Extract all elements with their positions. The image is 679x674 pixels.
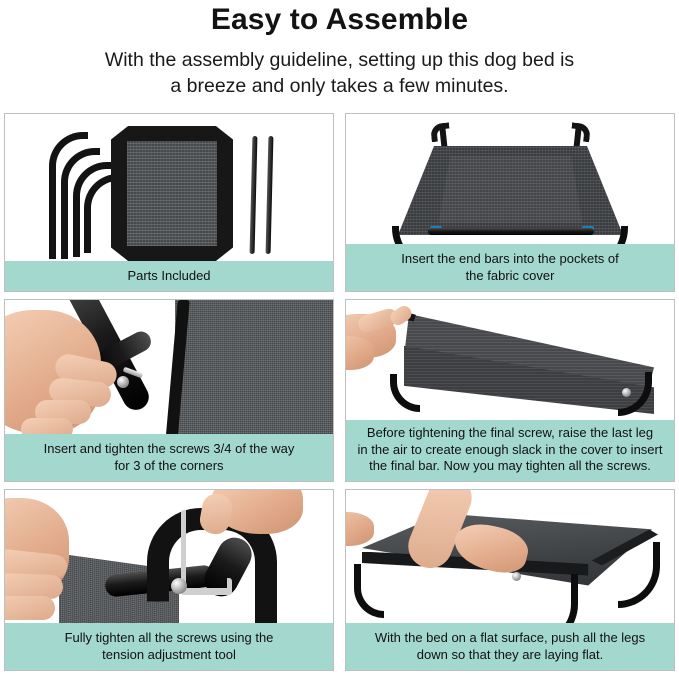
page-subtitle: With the assembly guideline, setting up …: [60, 47, 620, 99]
parts-illustration: [5, 114, 333, 261]
subtitle-line-2: a breeze and only takes a few minutes.: [60, 73, 620, 99]
bed-leg-left-standing: [390, 374, 420, 412]
bed-fabric-top: [398, 146, 623, 235]
raise-leg-illustration: [346, 300, 674, 420]
caption-line: Before tightening the final screw, raise…: [350, 425, 670, 442]
cover-mesh-area: [127, 141, 217, 246]
push-legs-illustration: [346, 490, 674, 624]
mesh-fabric-region: [175, 300, 333, 434]
tension-tool-arm[interactable]: [181, 578, 232, 595]
step-panel-insert-tighten-screws: Insert and tighten the screws 3/4 of the…: [4, 299, 334, 482]
screw-head: [117, 376, 129, 388]
caption-parts-included: Parts Included: [5, 261, 333, 291]
bed-fabric-face: [439, 156, 583, 224]
caption-raise-last-leg: Before tightening the final screw, raise…: [346, 420, 674, 481]
page-header: Easy to Assemble With the assembly guide…: [0, 0, 679, 99]
caption-line: the fabric cover: [350, 267, 670, 284]
end-bar-part-1: [250, 136, 258, 254]
step-panel-raise-last-leg: Before tightening the final screw, raise…: [345, 299, 675, 482]
caption-line: Insert the end bars into the pockets of: [350, 250, 670, 267]
caption-line: in the air to create enough slack in the…: [350, 442, 670, 459]
step-panel-push-legs-flat: With the bed on a flat surface, push all…: [345, 489, 675, 672]
caption-insert-end-bars: Insert the end bars into the pockets of …: [346, 244, 674, 291]
hand-left-finger-3: [5, 596, 55, 620]
caption-line: Fully tighten all the screws using the: [9, 629, 329, 646]
caption-line: tension adjustment tool: [9, 646, 329, 663]
end-bar-part-2: [266, 136, 274, 254]
bed-front-rail: [428, 228, 594, 235]
leg-screw-head: [171, 578, 187, 594]
insert-end-bars-illustration: [346, 114, 674, 244]
assembly-instruction-page: Easy to Assemble With the assembly guide…: [0, 0, 679, 674]
bed-leg-right: [618, 542, 660, 608]
caption-line: Parts Included: [9, 267, 329, 284]
step-panel-parts-included: Parts Included: [4, 113, 334, 292]
hand-left-grip: [346, 512, 374, 546]
corner-screw-head: [512, 572, 521, 581]
caption-fully-tighten-screws: Fully tighten all the screws using the t…: [5, 623, 333, 670]
bed-leg-front: [530, 574, 578, 624]
caption-line: down so that they are laying flat.: [350, 646, 670, 663]
subtitle-line-1: With the assembly guideline, setting up …: [60, 47, 620, 73]
fabric-cover-part: [111, 126, 233, 261]
caption-line: Insert and tighten the screws 3/4 of the…: [9, 440, 329, 457]
steps-grid: Parts Included: [4, 113, 675, 671]
caption-push-legs-flat: With the bed on a flat surface, push all…: [346, 623, 674, 670]
step-panel-fully-tighten-screws: Fully tighten all the screws using the t…: [4, 489, 334, 672]
caption-line: the final bar. Now you may tighten all t…: [350, 458, 670, 475]
page-title: Easy to Assemble: [0, 2, 679, 38]
hand-finger-pinky: [21, 418, 73, 434]
step-panel-insert-end-bars: Insert the end bars into the pockets of …: [345, 113, 675, 292]
tighten-screws-illustration: [5, 490, 333, 624]
caption-line: With the bed on a flat surface, push all…: [350, 629, 670, 646]
caption-insert-tighten-screws: Insert and tighten the screws 3/4 of the…: [5, 434, 333, 481]
caption-line: for 3 of the corners: [9, 457, 329, 474]
insert-screws-illustration: [5, 300, 333, 434]
bed-leg-left: [354, 564, 384, 618]
final-screw-head: [622, 388, 631, 397]
hand-left-finger-2: [5, 572, 63, 598]
